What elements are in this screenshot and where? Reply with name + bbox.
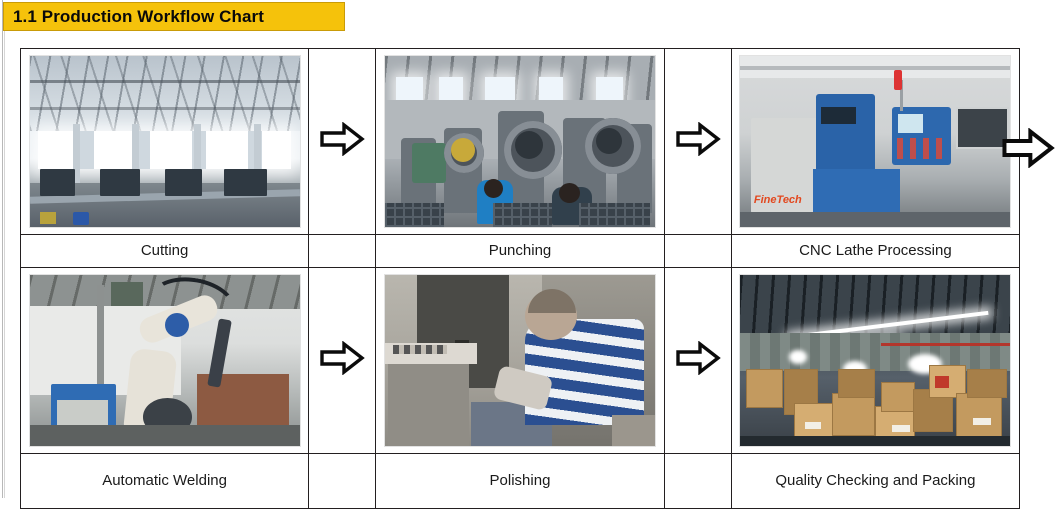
- step-caption: Punching: [376, 239, 663, 263]
- caption-spacer-1: [309, 235, 376, 268]
- caption-cell-polishing: Polishing: [376, 454, 664, 509]
- photo-cell-quality-packing: [731, 268, 1019, 454]
- right-block-arrow-icon: [675, 122, 721, 156]
- table-row-photos-2: [21, 268, 1020, 454]
- step-caption: CNC Lathe Processing: [732, 239, 1019, 263]
- photo-blue-cnc-machining-center: FineTech: [739, 55, 1011, 228]
- production-workflow-table: FineTech Cutting Punching CNC Lathe Proc…: [20, 48, 1020, 509]
- step-caption: Quality Checking and Packing: [732, 469, 1019, 493]
- table-row-captions-2: Automatic Welding Polishing Quality Chec…: [21, 454, 1020, 509]
- caption-spacer-4: [664, 454, 731, 509]
- right-block-arrow-icon-trailing: [997, 128, 1059, 168]
- arrow-cell-4: [664, 268, 731, 454]
- photo-cell-automatic-welding: [21, 268, 309, 454]
- arrow-cell-2: [664, 49, 731, 235]
- table-row-captions-1: Cutting Punching CNC Lathe Processing: [21, 235, 1020, 268]
- photo-punch-press-row-with-workers: [384, 55, 656, 228]
- caption-cell-punching: Punching: [376, 235, 664, 268]
- caption-cell-cutting: Cutting: [21, 235, 309, 268]
- photo-factory-hall-cutting-line: [29, 55, 301, 228]
- right-block-arrow-icon: [319, 122, 365, 156]
- photo-worker-at-drill-press: [384, 274, 656, 447]
- caption-cell-cnc-lathe: CNC Lathe Processing: [731, 235, 1019, 268]
- page-inner-rule: [4, 31, 5, 498]
- page-left-rule: [2, 0, 3, 498]
- section-header-banner: 1.1 Production Workflow Chart: [3, 2, 345, 31]
- arrow-cell-3: [309, 268, 376, 454]
- caption-cell-automatic-welding: Automatic Welding: [21, 454, 309, 509]
- photo-cell-punching: [376, 49, 664, 235]
- caption-spacer-2: [664, 235, 731, 268]
- right-block-arrow-icon: [319, 341, 365, 375]
- page-title: 1.1 Production Workflow Chart: [4, 7, 264, 27]
- machine-brand-label: FineTech: [754, 194, 802, 206]
- caption-cell-quality-packing: Quality Checking and Packing: [731, 454, 1019, 509]
- step-caption: Automatic Welding: [21, 469, 308, 493]
- photo-warehouse-stacked-cartons: [739, 274, 1011, 447]
- arrow-cell-1: [309, 49, 376, 235]
- step-caption: Polishing: [376, 469, 663, 493]
- caption-spacer-3: [309, 454, 376, 509]
- photo-white-welding-robot-arm: [29, 274, 301, 447]
- table-row-photos-1: FineTech: [21, 49, 1020, 235]
- photo-cell-cutting: [21, 49, 309, 235]
- step-caption: Cutting: [21, 239, 308, 263]
- photo-cell-cnc-lathe: FineTech: [731, 49, 1019, 235]
- photo-cell-polishing: [376, 268, 664, 454]
- right-block-arrow-icon: [675, 341, 721, 375]
